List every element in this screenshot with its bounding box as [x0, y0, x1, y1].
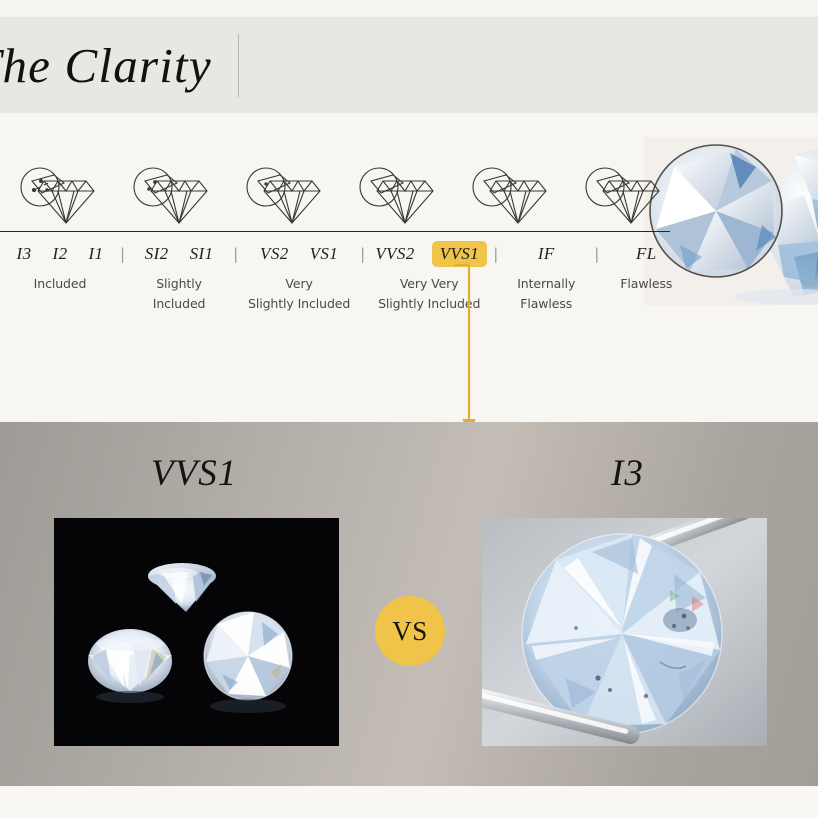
grade-code[interactable]: I1 [84, 242, 107, 266]
grade-group-very-slightly-included: VS2 VS1 Very Slightly Included [238, 241, 360, 315]
grade-codes: FL [632, 241, 661, 267]
grade-code[interactable]: VS2 [256, 242, 293, 266]
i3-diamond-tweezers-photo[interactable] [482, 518, 767, 746]
grade-code[interactable]: SI2 [141, 242, 173, 266]
grade-codes: IF [534, 241, 559, 267]
vvs1-callout-connector [455, 259, 485, 422]
grade-codes: SI2 SI1 [141, 241, 218, 267]
grade-group-internally-flawless: IF Internally Flawless [498, 241, 594, 315]
comparison-right-title: I3 [611, 455, 644, 492]
grade-code[interactable]: IF [534, 242, 559, 266]
grade-name: Flawless [620, 274, 672, 294]
header-divider [238, 34, 239, 97]
diamond-loupe-icon [0, 159, 113, 231]
grade-code[interactable]: FL [632, 242, 661, 266]
clarity-scale-rule [0, 231, 670, 232]
diamond-loupe-icon [339, 159, 452, 231]
page-title: The Clarity [0, 41, 212, 90]
grade-name: Slightly Included [153, 274, 206, 315]
comparison-left-title: VVS1 [151, 455, 237, 492]
bottom-cream-strip [0, 786, 818, 818]
clarity-icon-row [0, 151, 678, 231]
grade-code[interactable]: I2 [49, 242, 72, 266]
clarity-scale-section: I3 I2 I1 Included | SI2 SI1 Slightly Inc… [0, 113, 818, 422]
clarity-grade-list: I3 I2 I1 Included | SI2 SI1 Slightly Inc… [0, 241, 700, 315]
diamond-loupe-icon [113, 159, 226, 231]
grade-codes: VS2 VS1 [256, 241, 342, 267]
diamond-loupe-icon [565, 159, 678, 231]
grade-code[interactable]: SI1 [186, 242, 218, 266]
grade-code[interactable]: I3 [13, 242, 36, 266]
grade-group-slightly-included: SI2 SI1 Slightly Included [125, 241, 233, 315]
diamond-loupe-icon [452, 159, 565, 231]
grade-group-included: I3 I2 I1 Included [0, 241, 120, 294]
top-cream-strip [0, 0, 818, 17]
grade-name: Very Slightly Included [248, 274, 350, 315]
diamond-loupe-icon [226, 159, 339, 231]
grade-code[interactable]: VVS2 [371, 242, 418, 266]
versus-badge: VS [375, 596, 445, 666]
grade-code[interactable]: VS1 [306, 242, 343, 266]
grade-codes: I3 I2 I1 [13, 241, 108, 267]
vvs1-diamonds-photo[interactable] [54, 518, 339, 746]
grade-group-flawless: FL Flawless [599, 241, 693, 294]
clarity-header-band: The Clarity [0, 17, 818, 113]
grade-name: Included [34, 274, 87, 294]
grade-name: Internally Flawless [517, 274, 575, 315]
